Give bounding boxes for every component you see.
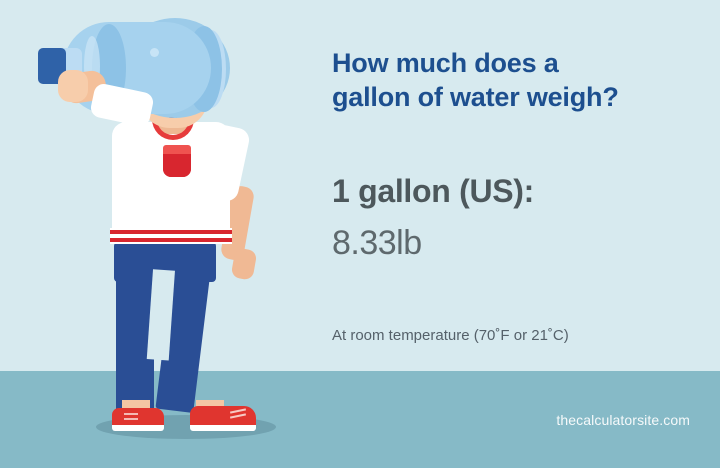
shirt-pocket-inner bbox=[163, 154, 191, 177]
left-sneaker-lace bbox=[124, 413, 138, 415]
illustration-man-with-water-bottle bbox=[0, 0, 300, 468]
page-title: How much does a gallon of water weigh? bbox=[332, 46, 692, 114]
infographic-canvas: How much does a gallon of water weigh? 1… bbox=[0, 0, 720, 468]
shirt-hem-stripe-2 bbox=[110, 238, 232, 242]
answer-value: 8.33lb bbox=[332, 222, 692, 264]
left-sneaker-sole bbox=[112, 425, 164, 431]
headline-line-2: gallon of water weigh? bbox=[332, 80, 692, 114]
answer-label: 1 gallon (US): bbox=[332, 172, 692, 210]
left-hand bbox=[58, 70, 88, 102]
right-sneaker-sole bbox=[190, 425, 256, 431]
left-sneaker-lace-2 bbox=[124, 418, 138, 420]
site-watermark: thecalculatorsite.com bbox=[400, 412, 690, 428]
water-bottle-highlight-dot bbox=[150, 48, 159, 57]
shirt-hem-stripe-1 bbox=[110, 230, 232, 234]
headline-line-1: How much does a bbox=[332, 46, 692, 80]
footnote: At room temperature (70˚F or 21˚C) bbox=[332, 326, 702, 346]
right-hand bbox=[231, 247, 258, 280]
